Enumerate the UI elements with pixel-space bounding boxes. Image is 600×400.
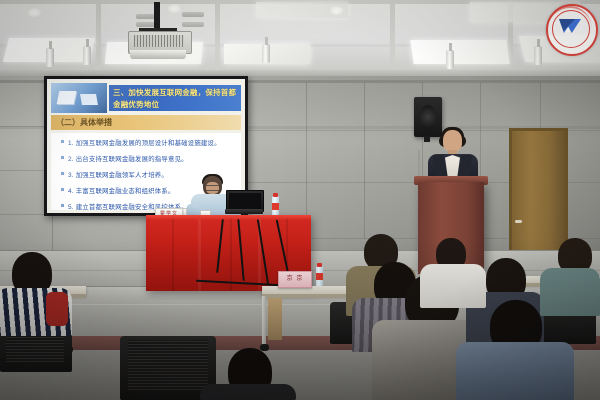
door[interactable] (509, 128, 568, 254)
slide-title-text: 三、加快发展互联网金融，保持首都金融优势地位 (109, 85, 241, 111)
presenter-shirt (445, 155, 460, 177)
downlight-icon (168, 4, 181, 13)
slide-bullet: 2. 出台支持互联网金融发展的指导意见。 (61, 154, 188, 163)
air-vent (182, 12, 204, 17)
wall-speaker (414, 97, 442, 137)
university-seal-watermark (546, 4, 598, 56)
audience-placard: 京 京 (278, 271, 312, 288)
door-handle[interactable] (515, 220, 522, 223)
projector-lens (130, 50, 186, 59)
slide-bullet: 4. 丰富互联网金融业态和组织体系。 (61, 186, 175, 195)
spotlight-icon (46, 48, 54, 67)
water-bottle (316, 266, 323, 286)
presenter-head (443, 130, 462, 152)
ceiling-light-panel (410, 40, 509, 64)
slide-bullet: 1. 加强互联网金融发展的顶层设计和基础设施建设。 (61, 138, 221, 147)
projector-mount (154, 2, 160, 31)
spotlight-icon (534, 46, 542, 65)
speaker-mount (424, 136, 430, 142)
audience-placard-text: 京 京 (279, 272, 311, 287)
slide-subtitle-text: （二）具体举措 (51, 115, 241, 130)
downlight-icon (330, 6, 343, 15)
ceiling (0, 0, 600, 76)
slide-bullet: 3. 加强互联网金融领军人才培养。 (61, 170, 168, 179)
downlight-icon (28, 8, 41, 17)
laptop-keyboard (225, 209, 263, 214)
lecture-hall-photo: 三、加快发展互联网金融，保持首都金融优势地位 （二）具体举措 1. 加强互联网金… (0, 0, 600, 400)
air-vent (182, 22, 204, 27)
spotlight-icon (262, 44, 270, 63)
slide-title-bar: 三、加快发展互联网金融，保持首都金融优势地位 (109, 85, 241, 111)
eyeglasses-icon (205, 185, 220, 191)
projector-vent (134, 35, 184, 47)
water-bottle (272, 196, 279, 216)
spotlight-icon (446, 50, 454, 69)
slide-header-image (51, 83, 107, 113)
desk-modesty-panel (268, 298, 282, 340)
spotlight-icon (83, 46, 91, 65)
slide-subtitle-bar: （二）具体举措 (51, 115, 241, 130)
desk-caster (260, 344, 269, 351)
